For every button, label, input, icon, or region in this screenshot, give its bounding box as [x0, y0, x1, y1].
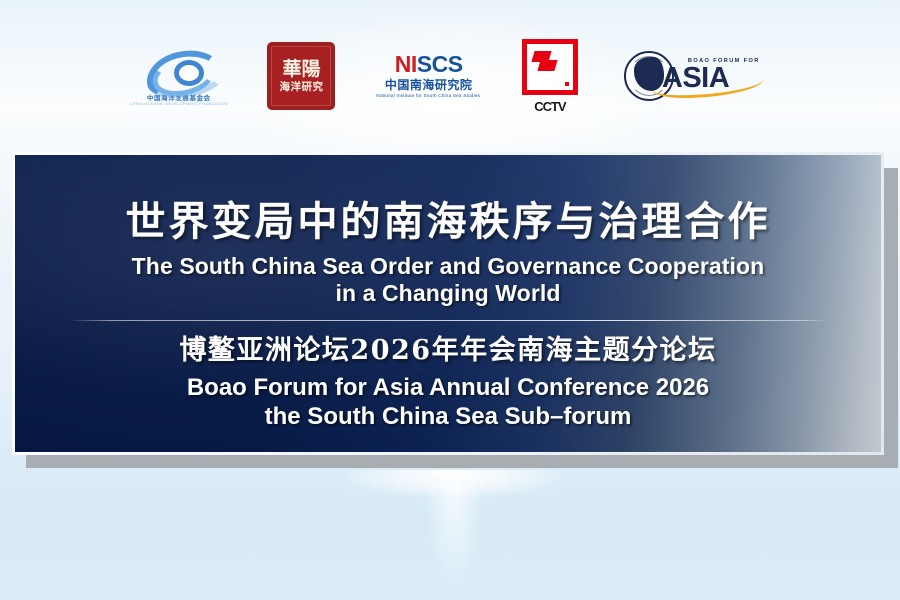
logo-label-en: National Institute for South China Sea S…	[377, 94, 481, 99]
subtitle-en-line1: Boao Forum for Asia Annual Conference 20…	[15, 374, 881, 402]
cctv-mark-icon	[522, 39, 578, 95]
main-title-cn: 世界变局中的南海秩序与治理合作	[15, 202, 881, 242]
seal-label-top: 華陽	[282, 60, 320, 79]
niscs-abbr: NISCS	[395, 53, 463, 76]
subtitle-block: 博鳌亚洲论坛2026年年会南海主题分论坛 Boao Forum for Asia…	[15, 321, 881, 431]
sea-reflection-highlight	[300, 474, 600, 504]
subtitle-cn: 博鳌亚洲论坛2026年年会南海主题分论坛	[15, 337, 881, 364]
main-title-block: 世界变局中的南海秩序与治理合作 The South China Sea Orde…	[15, 155, 881, 306]
main-title-en-line2: in a Changing World	[15, 280, 881, 307]
logo-boao-forum-for-asia: BOAO FORUM FOR ASIA	[624, 37, 764, 115]
logo-niscs: NISCS 中国南海研究院 National Institute for Sou…	[381, 37, 475, 115]
logo-label-cn: 中国南海研究院	[385, 79, 473, 91]
conference-backdrop-slide: 中国海洋发展基金会 CHINA OCEANIC DEVELOPMENT FOUN…	[0, 0, 900, 600]
niscs-abbr-red: NI	[395, 51, 417, 77]
logo-cctv: CCTV	[522, 37, 578, 115]
subtitle-en-line2: the South China Sea Sub–forum	[15, 403, 881, 431]
main-title-en: The South China Sea Order and Governance…	[15, 253, 881, 306]
niscs-abbr-blue: SCS	[417, 51, 463, 77]
red-seal-icon: 華陽 海洋研究	[267, 42, 335, 110]
logo-label-en: CHINA OCEANIC DEVELOPMENT FOUNDATION	[130, 101, 228, 106]
logo-china-oceanic-development-foundation: 中国海洋发展基金会 CHINA OCEANIC DEVELOPMENT FOUN…	[136, 37, 221, 115]
main-title-en-line1: The South China Sea Order and Governance…	[15, 253, 881, 280]
ocean-wave-icon	[146, 47, 212, 89]
sponsor-logo-strip: 中国海洋发展基金会 CHINA OCEANIC DEVELOPMENT FOUN…	[0, 36, 900, 116]
logo-huayang-institute: 華陽 海洋研究	[267, 37, 335, 115]
subtitle-en: Boao Forum for Asia Annual Conference 20…	[15, 374, 881, 431]
seal-label-bottom: 海洋研究	[279, 82, 323, 93]
conference-banner: 世界变局中的南海秩序与治理合作 The South China Sea Orde…	[12, 152, 884, 455]
bfa-wordmark: ASIA	[662, 64, 760, 93]
cctv-wordmark: CCTV	[534, 99, 565, 114]
